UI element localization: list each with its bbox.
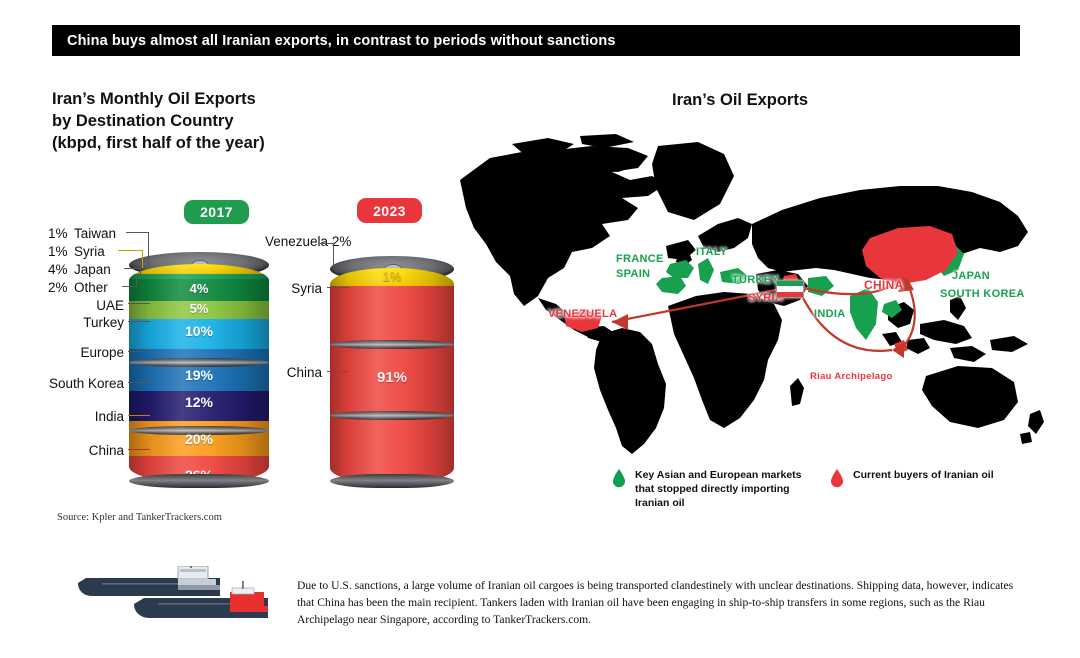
barrel-2017-body: 4% 5% 10% 19% 12% 20% 26%: [129, 264, 269, 483]
leader-europe: [128, 351, 150, 352]
label-taiwan: 1%Taiwan: [48, 226, 116, 241]
year-badge-2017: 2017: [184, 200, 249, 224]
leader-syria: [118, 250, 142, 251]
left-chart-title-line2: by Destination Country: [52, 111, 352, 133]
leader-venezuela-v: [333, 243, 334, 267]
label-other-name: Other: [74, 280, 108, 295]
label-other-pct: 2%: [48, 280, 74, 295]
map-label-france: FRANCE: [616, 253, 664, 265]
leader-turkey: [128, 321, 150, 322]
tanker-ships-illustration: [72, 566, 287, 628]
leader-other: [122, 286, 136, 287]
label-syria-pct: 1%: [48, 244, 74, 259]
map-label-riau-archipelago: Riau Archipelago: [810, 371, 893, 382]
label-other: 2%Other: [48, 280, 108, 295]
label-china-2017: China: [52, 443, 124, 458]
left-chart-title: Iran’s Monthly Oil Exports by Destinatio…: [52, 89, 352, 154]
leader-japan: [124, 268, 140, 269]
leader-venezuela: [320, 243, 334, 244]
map-label-south-korea: SOUTH KOREA: [940, 288, 1025, 300]
label-venezuela-2023: Venezuela 2%: [265, 234, 351, 249]
barrel-2017-rib-1: [129, 358, 269, 367]
label-south-korea: South Korea: [22, 376, 124, 391]
label-venezuela-pct: 2%: [332, 234, 352, 249]
label-taiwan-pct: 1%: [48, 226, 74, 241]
world-map: FRANCE SPAIN ITALY TURKEY SYRIA INDIA CH…: [452, 128, 1052, 458]
footer-note: Due to U.S. sanctions, a large volume of…: [297, 578, 1015, 629]
map-label-india: INDIA: [814, 308, 845, 320]
left-chart-title-line3: (kbpd, first half of the year): [52, 133, 352, 155]
label-japan-name: Japan: [74, 262, 111, 277]
legend-text-buyers: Current buyers of Iranian oil: [853, 468, 994, 482]
label-japan: 4%Japan: [48, 262, 111, 277]
label-venezuela-name: Venezuela: [265, 234, 328, 249]
barrel-2023-rib-1: [330, 340, 454, 349]
left-chart-title-line1: Iran’s Monthly Oil Exports: [52, 89, 352, 111]
label-syria-2023: Syria: [270, 281, 322, 296]
segment-value-turkey: 10%: [129, 323, 269, 339]
label-syria-2017: 1%Syria: [48, 244, 105, 259]
barrel-2017: 4% 5% 10% 19% 12% 20% 26%: [129, 258, 269, 483]
red-drop-icon: [830, 469, 844, 488]
label-europe: Europe: [52, 345, 124, 360]
map-label-spain: SPAIN: [616, 268, 650, 280]
chart-source: Source: Kpler and TankerTrackers.com: [57, 512, 222, 523]
barrel-2017-base: [129, 474, 269, 488]
barrel-2023-body: 1% 91%: [330, 268, 454, 484]
leader-other-v: [136, 275, 137, 286]
barrel-2023-rib-2: [330, 411, 454, 420]
segment-value-europe: 19%: [129, 367, 269, 383]
label-taiwan-name: Taiwan: [74, 226, 116, 241]
leader-syria-2023: [327, 287, 349, 288]
label-syria-name: Syria: [74, 244, 105, 259]
label-turkey: Turkey: [52, 315, 124, 330]
legend-item-stopped: Key Asian and European markets that stop…: [612, 468, 812, 511]
map-label-italy: ITALY: [696, 246, 727, 258]
leader-south-korea: [128, 382, 150, 383]
green-drop-icon: [612, 469, 626, 488]
leader-india: [128, 415, 150, 416]
segment-value-japan: 4%: [129, 281, 269, 296]
leader-japan-v: [140, 268, 141, 279]
map-label-venezuela: VENEZUELA: [548, 308, 617, 320]
year-badge-2023: 2023: [357, 198, 422, 223]
label-china-2023: China: [266, 365, 322, 380]
ship-rear: [78, 566, 220, 596]
barrel-2023-base: [330, 474, 454, 488]
map-label-japan: JAPAN: [952, 270, 990, 282]
leader-taiwan: [126, 232, 148, 233]
leader-uae: [128, 303, 150, 304]
iran-flag-icon: [776, 280, 804, 298]
segment-taiwan-syria: [129, 264, 269, 274]
segment-value-uae: 5%: [129, 301, 269, 316]
map-title: Iran’s Oil Exports: [672, 91, 808, 110]
label-japan-pct: 4%: [48, 262, 74, 277]
label-uae: UAE: [62, 298, 124, 313]
leader-china-2017: [128, 449, 150, 450]
leader-taiwan-v: [148, 232, 149, 266]
barrel-2023: 1% 91%: [330, 262, 454, 484]
legend-text-stopped: Key Asian and European markets that stop…: [635, 468, 812, 511]
legend-item-buyers: Current buyers of Iranian oil: [830, 468, 1010, 488]
leader-china-2023: [327, 371, 349, 372]
segment-value-syria-2023: 1%: [330, 269, 454, 284]
segment-value-india: 20%: [129, 431, 269, 447]
arrow-to-riau: [800, 292, 892, 351]
headline-bar: China buys almost all Iranian exports, i…: [52, 25, 1020, 56]
headline-text: China buys almost all Iranian exports, i…: [52, 33, 616, 49]
map-label-turkey: TURKEY: [732, 274, 779, 286]
leader-syria-v: [142, 250, 143, 268]
map-label-china: CHINA: [864, 278, 904, 292]
label-india: India: [52, 409, 124, 424]
segment-value-south-korea: 12%: [129, 394, 269, 410]
